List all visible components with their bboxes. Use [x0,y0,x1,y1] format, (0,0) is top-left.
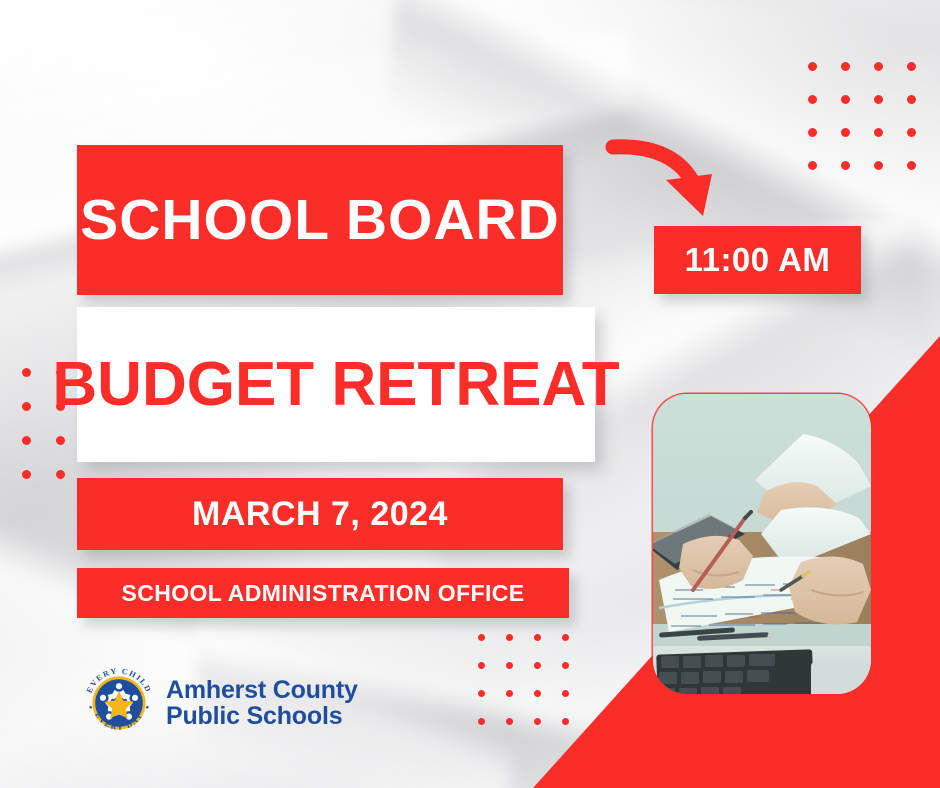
logo-line-1: Amherst County [166,677,358,703]
dot [808,95,817,104]
dot [478,662,485,669]
dot [808,128,817,137]
title-banner: SCHOOL BOARD [77,145,563,295]
dot [56,436,65,445]
dot [22,436,31,445]
dot [562,690,569,697]
dot [907,161,916,170]
dot [506,662,513,669]
dot [506,634,513,641]
dot [808,161,817,170]
dot [841,62,850,71]
dot [478,690,485,697]
dot [841,95,850,104]
dot [841,128,850,137]
meeting-photo [653,394,871,694]
dot [874,95,883,104]
subtitle-banner: BUDGET RETREAT [77,307,595,462]
dot [874,128,883,137]
curved-arrow-down-right-icon [604,138,729,216]
logo-line-2: Public Schools [166,703,358,729]
dot [56,470,65,479]
dot [562,634,569,641]
dot-grid-bottom [478,634,569,725]
dot [808,62,817,71]
time-banner: 11:00 AM [654,226,861,294]
dot [907,62,916,71]
event-date: MARCH 7, 2024 [192,495,448,534]
dot [478,634,485,641]
dot [506,690,513,697]
dot [841,161,850,170]
dot [562,718,569,725]
event-time: 11:00 AM [685,241,831,279]
dot [562,662,569,669]
date-banner: MARCH 7, 2024 [77,478,563,550]
dot [907,95,916,104]
page-subtitle: BUDGET RETREAT [52,354,619,416]
event-location: SCHOOL ADMINISTRATION OFFICE [121,580,524,607]
dot [22,368,31,377]
dot [22,470,31,479]
dot [874,62,883,71]
dot [534,690,541,697]
dot-grid-top-right [808,62,916,170]
dot [907,128,916,137]
organization-logo: EVERY CHILD EVERY DAY Amherst County Pub… [84,668,358,738]
dot [506,718,513,725]
dot [874,161,883,170]
page-title: SCHOOL BOARD [80,192,560,249]
logo-wordmark: Amherst County Public Schools [166,677,358,729]
dot [534,718,541,725]
location-banner: SCHOOL ADMINISTRATION OFFICE [77,568,569,618]
dot [534,662,541,669]
dot [534,634,541,641]
dot [22,402,31,411]
dot [478,718,485,725]
star-seal-icon: EVERY CHILD EVERY DAY [84,668,154,738]
photo-illustration [653,394,871,694]
poster-canvas: SCHOOL BOARD BUDGET RETREAT MARCH 7, 202… [0,0,940,788]
